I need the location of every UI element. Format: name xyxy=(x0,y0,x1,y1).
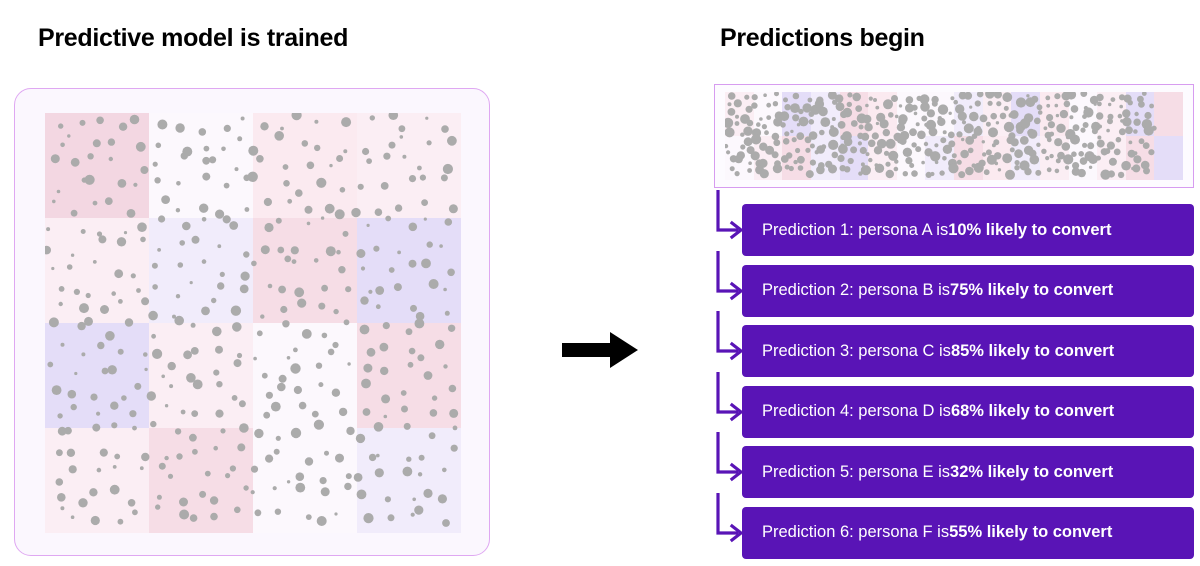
grid-cell xyxy=(840,92,869,136)
grid-cell xyxy=(253,323,357,428)
prediction-likelihood: 75% likely to convert xyxy=(950,281,1113,300)
grid-cell xyxy=(725,136,754,180)
prediction-data-card xyxy=(714,84,1194,188)
grid-cell xyxy=(897,136,926,180)
grid-cell xyxy=(357,428,461,533)
grid-cell xyxy=(1040,92,1069,136)
prediction-row[interactable]: Prediction 6: persona F is 55% likely to… xyxy=(742,507,1194,559)
grid-cell xyxy=(1097,92,1126,136)
grid-cell xyxy=(45,428,149,533)
grid-cell xyxy=(1069,136,1098,180)
grid-cell xyxy=(45,323,149,428)
prediction-likelihood: 85% likely to convert xyxy=(951,342,1114,361)
grid-cell xyxy=(897,92,926,136)
prediction-label: Prediction 4: persona D is xyxy=(762,402,951,421)
prediction-row[interactable]: Prediction 1: persona A is 10% likely to… xyxy=(742,204,1194,256)
grid-cell xyxy=(1040,136,1069,180)
grid-cell xyxy=(1011,136,1040,180)
prediction-likelihood: 55% likely to convert xyxy=(949,523,1112,542)
right-arrow-icon xyxy=(562,330,638,370)
grid-cell xyxy=(1069,92,1098,136)
grid-cell xyxy=(1011,92,1040,136)
grid-cell xyxy=(1097,136,1126,180)
grid-cell xyxy=(357,218,461,323)
grid-cell xyxy=(45,218,149,323)
prediction-label: Prediction 3: persona C is xyxy=(762,342,951,361)
prediction-likelihood: 68% likely to convert xyxy=(951,402,1114,421)
grid-cell xyxy=(811,136,840,180)
grid-cell xyxy=(149,323,253,428)
prediction-label: Prediction 5: persona E is xyxy=(762,463,950,482)
grid-cell xyxy=(954,92,983,136)
prediction-label: Prediction 6: persona F is xyxy=(762,523,949,542)
grid-cell xyxy=(782,136,811,180)
grid-cell xyxy=(149,113,253,218)
page-title-training: Predictive model is trained xyxy=(38,24,348,53)
grid-cell xyxy=(868,92,897,136)
grid-cell xyxy=(983,92,1012,136)
grid-cell xyxy=(1154,92,1183,136)
grid-cell xyxy=(840,136,869,180)
training-data-grid xyxy=(45,113,461,533)
prediction-label: Prediction 2: persona B is xyxy=(762,281,950,300)
prediction-row[interactable]: Prediction 3: persona C is 85% likely to… xyxy=(742,325,1194,377)
grid-cell xyxy=(925,92,954,136)
prediction-label: Prediction 1: persona A is xyxy=(762,221,948,240)
grid-cell xyxy=(954,136,983,180)
grid-cell xyxy=(253,428,357,533)
prediction-data-strip xyxy=(725,92,1183,180)
page-title-predictions: Predictions begin xyxy=(720,24,925,53)
grid-cell xyxy=(925,136,954,180)
prediction-row[interactable]: Prediction 2: persona B is 75% likely to… xyxy=(742,265,1194,317)
grid-cell xyxy=(811,92,840,136)
grid-cell xyxy=(45,113,149,218)
grid-cell xyxy=(357,113,461,218)
prediction-likelihood: 10% likely to convert xyxy=(948,221,1111,240)
training-data-card xyxy=(14,88,490,556)
prediction-likelihood: 32% likely to convert xyxy=(950,463,1113,482)
grid-cell xyxy=(149,218,253,323)
grid-cell xyxy=(149,428,253,533)
grid-cell xyxy=(1126,92,1155,136)
prediction-row[interactable]: Prediction 5: persona E is 32% likely to… xyxy=(742,446,1194,498)
grid-cell xyxy=(1154,136,1183,180)
grid-cell xyxy=(754,92,783,136)
grid-cell xyxy=(868,136,897,180)
grid-cell xyxy=(357,323,461,428)
grid-cell xyxy=(253,113,357,218)
prediction-row[interactable]: Prediction 4: persona D is 68% likely to… xyxy=(742,386,1194,438)
grid-cell xyxy=(253,218,357,323)
grid-cell xyxy=(725,92,754,136)
grid-cell xyxy=(782,92,811,136)
grid-cell xyxy=(983,136,1012,180)
grid-cell xyxy=(754,136,783,180)
grid-cell xyxy=(1126,136,1155,180)
